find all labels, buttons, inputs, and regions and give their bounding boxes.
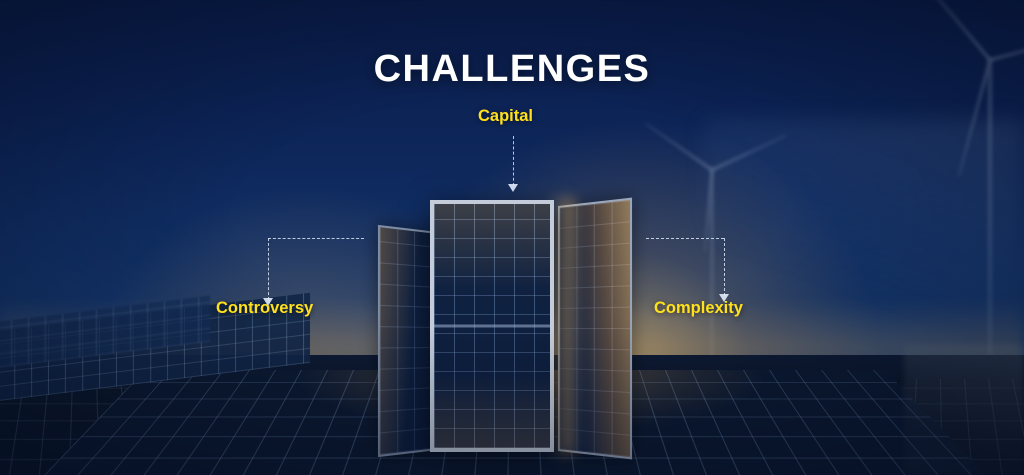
arrowhead-icon [508, 184, 518, 192]
callout-label-complexity: Complexity [654, 299, 743, 318]
hero-banner: CHALLENGES Capital Controversy Complexit… [0, 0, 1024, 475]
leader-segment-horizontal [646, 238, 724, 239]
arrowhead-icon [719, 294, 729, 302]
page-title: CHALLENGES [0, 48, 1024, 91]
leader-segment-vertical [268, 238, 269, 300]
leader-segment-vertical [513, 136, 514, 186]
leader-segment-vertical [724, 238, 725, 296]
callout-label-capital: Capital [478, 107, 533, 126]
arrowhead-icon [263, 298, 273, 306]
leader-segment-horizontal [268, 238, 364, 239]
